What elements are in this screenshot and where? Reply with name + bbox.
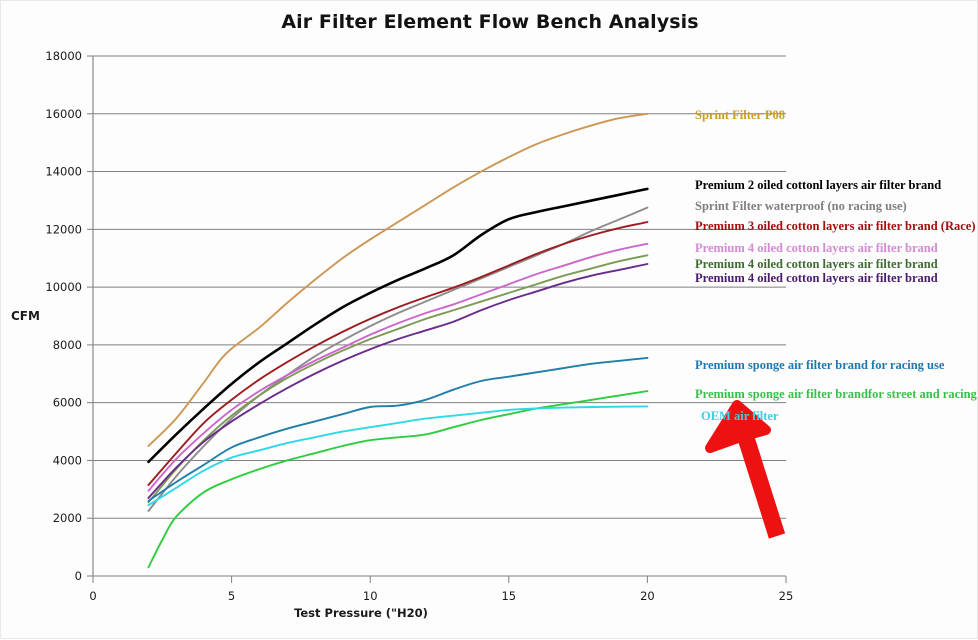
plot-area: 0200040006000800010000120001400016000180… [1, 1, 978, 640]
series-line-9 [148, 406, 647, 505]
series-label-3: Premium 3 oiled cotton layers air filter… [695, 220, 976, 233]
series-line-2 [148, 208, 647, 511]
series-line-6 [148, 264, 647, 498]
x-tick-label: 15 [501, 589, 516, 603]
y-tick-label: 18000 [45, 49, 82, 63]
x-tick-label: 5 [228, 589, 235, 603]
y-tick-label: 8000 [53, 338, 82, 352]
x-tick-label: 10 [363, 589, 378, 603]
series-line-7 [148, 358, 647, 501]
series-label-5: Premium 4 oiled cotton layers air filter… [695, 258, 938, 271]
y-tick-label: 6000 [53, 396, 82, 410]
series-line-3 [148, 222, 647, 485]
series-label-7: Premium sponge air filter brand for raci… [695, 359, 944, 372]
series-label-6: Premium 4 oiled cotton layers air filter… [695, 272, 938, 285]
y-tick-label: 16000 [45, 107, 82, 121]
series-line-1 [148, 189, 647, 462]
series-line-5 [148, 255, 647, 502]
series-label-4: Premium 4 oiled cotton layers air filter… [695, 242, 938, 255]
series-label-1: Premium 2 oiled cottonl layers air filte… [695, 179, 941, 192]
series-label-8: Premium sponge air filter brandfor stree… [695, 388, 978, 401]
y-tick-label: 0 [75, 569, 82, 583]
series-label-0: Sprint Filter P08 [695, 109, 785, 122]
x-tick-label: 25 [779, 589, 794, 603]
series-label-2: Sprint Filter waterproof (no racing use) [695, 200, 907, 213]
series-label-9: OEM air filter [701, 410, 779, 423]
y-tick-label: 10000 [45, 280, 82, 294]
x-tick-label: 20 [640, 589, 655, 603]
y-tick-label: 4000 [53, 453, 82, 467]
y-tick-label: 12000 [45, 222, 82, 236]
red-arrow-annotation [710, 405, 777, 536]
y-tick-label: 14000 [45, 165, 82, 179]
x-tick-label: 0 [89, 589, 96, 603]
chart-screenshot: Air Filter Element Flow Bench Analysis C… [0, 0, 978, 639]
y-tick-label: 2000 [53, 511, 82, 525]
